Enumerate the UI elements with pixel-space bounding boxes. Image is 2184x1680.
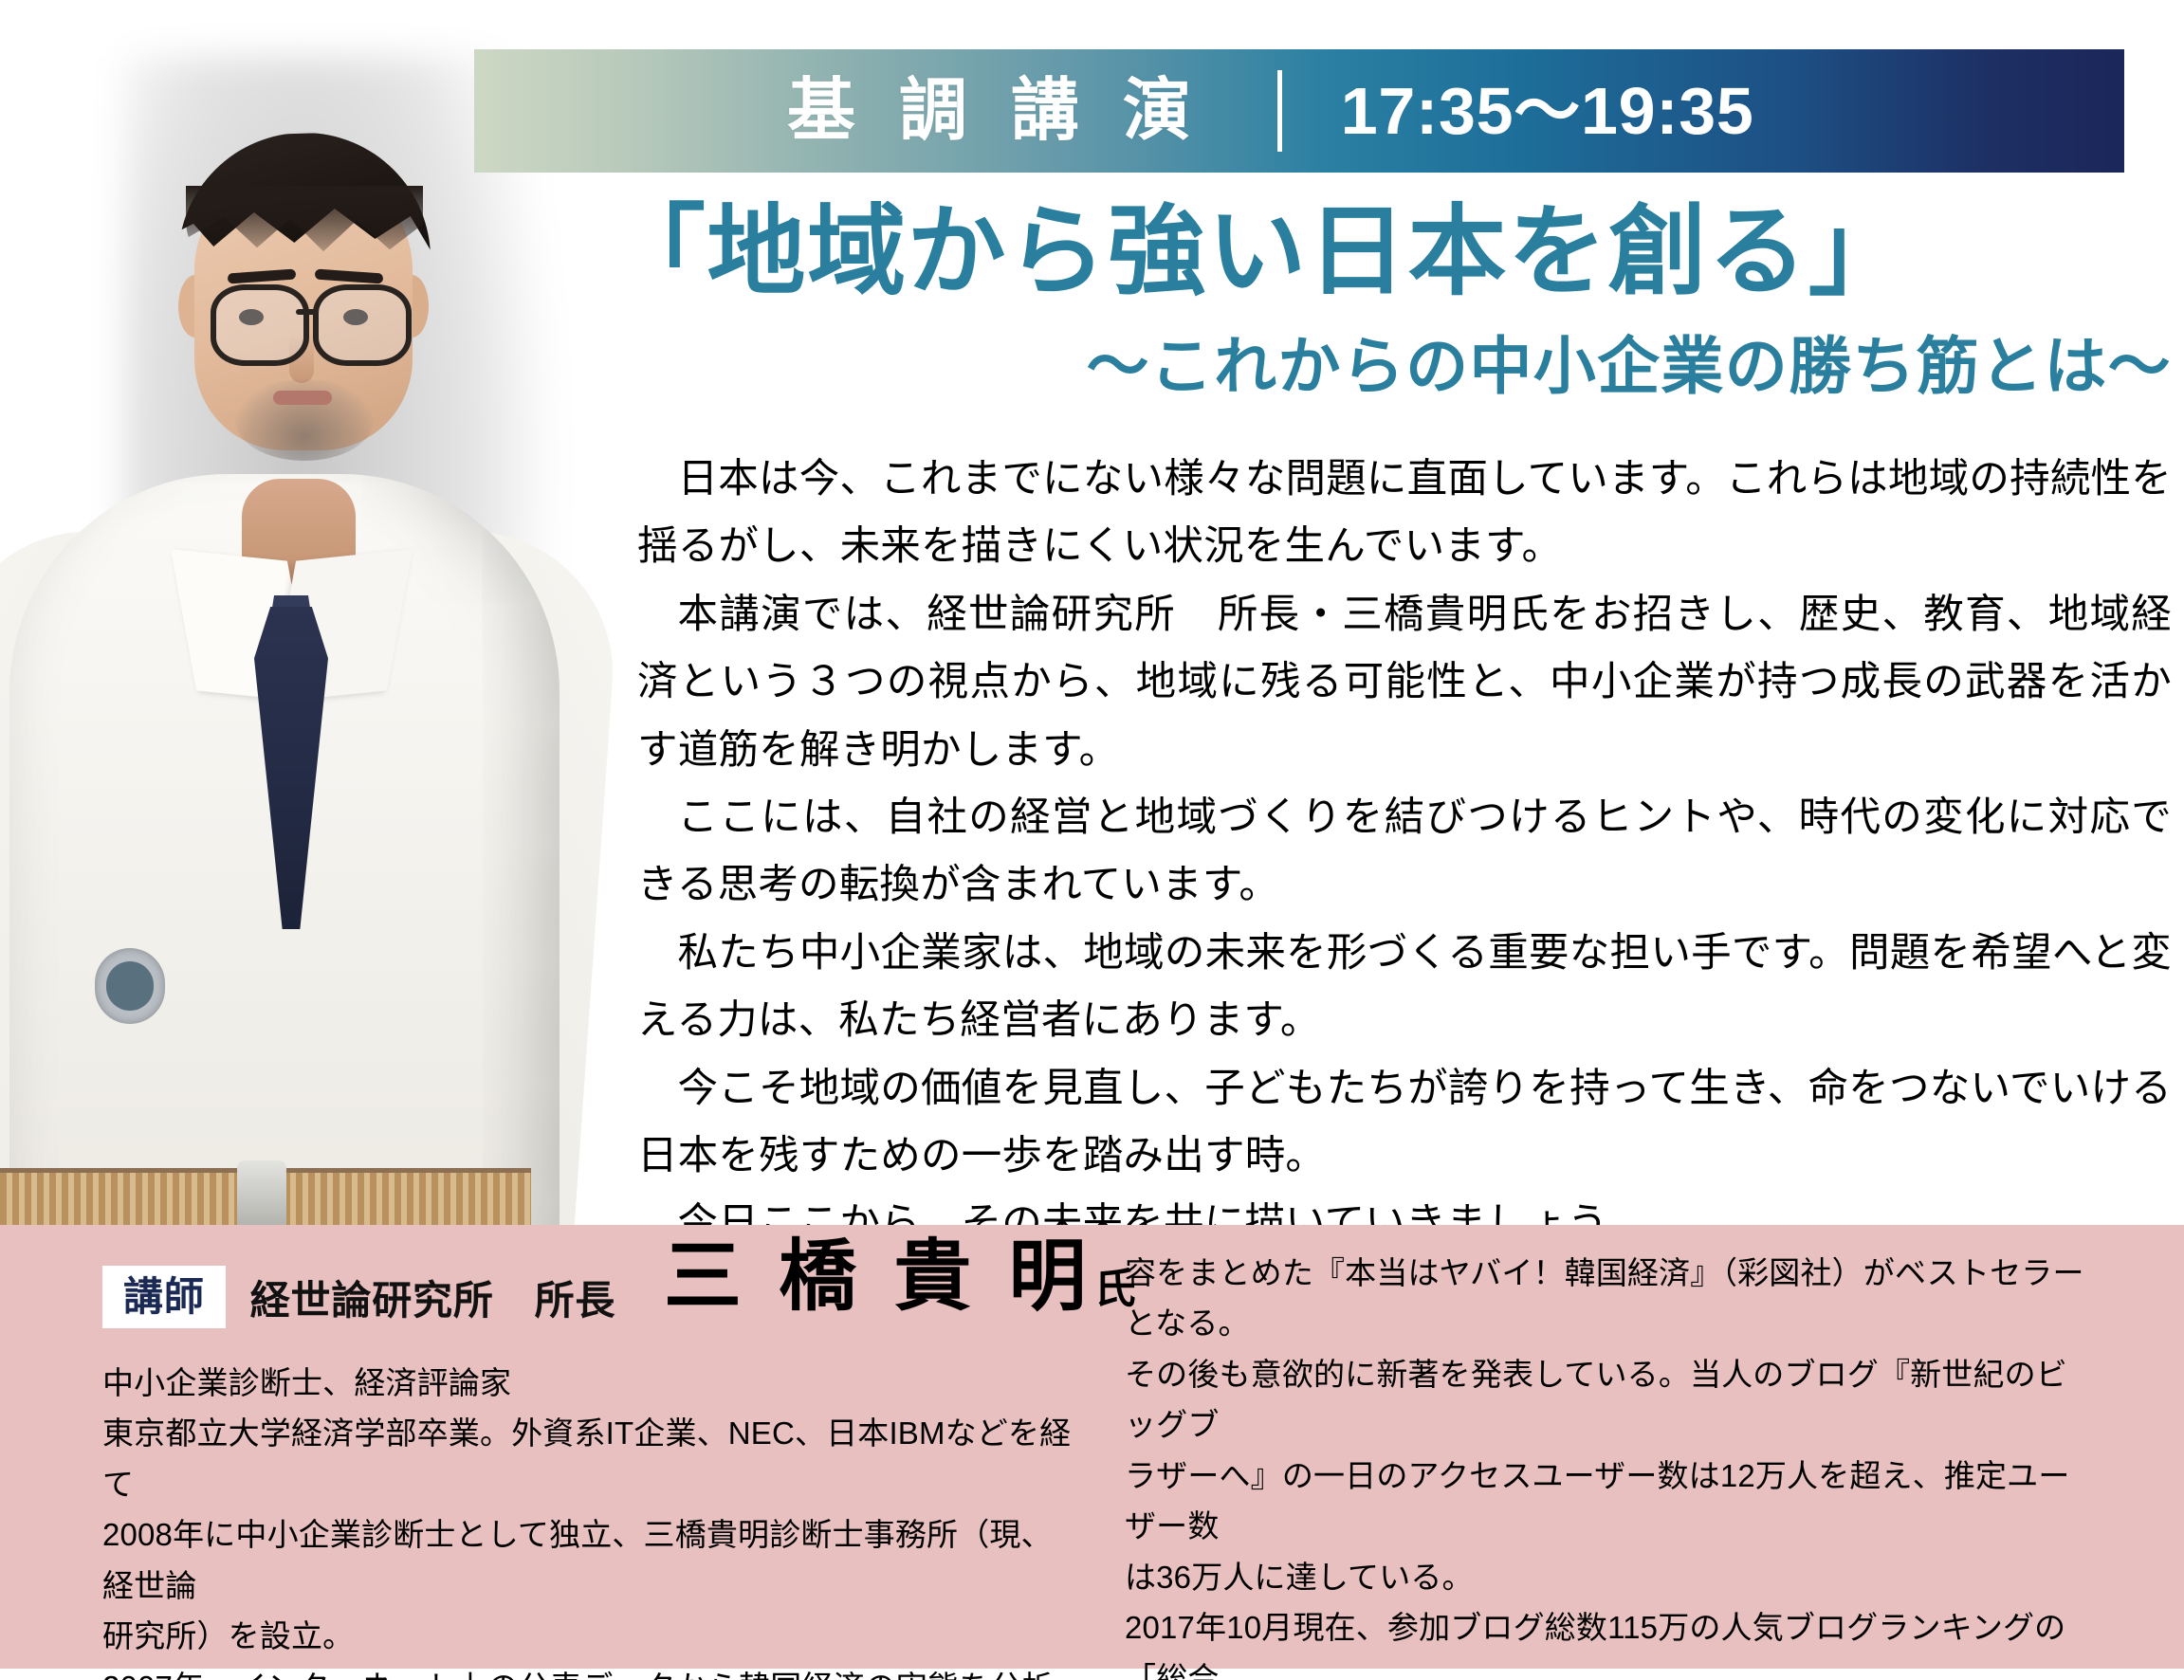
speaker-badge: 講師 [102,1266,226,1328]
bio-line: 容をまとめた『本当はヤバイ！韓国経済』（彩図社）がベストセラーとなる。 [1125,1248,2092,1349]
bio-line: 中小企業診断士、経済評論家 [102,1358,1079,1408]
bio-line: その後も意欲的に新著を発表している。当人のブログ『新世紀のビッグブ [1125,1349,2092,1451]
banner-time: 17:35〜19:35 [1341,78,1754,144]
lecture-title: 「地域から強い日本を創る」 [607,197,2162,307]
description-paragraph: 本講演では、経世論研究所 所長・三橋貴明氏をお招きし、歴史、教育、地域経済という… [637,581,2172,784]
banner-label: 基 調 講 演 [787,77,1203,145]
seminar-poster: 基 調 講 演 17:35〜19:35 「地域から強い日本を創る」 〜これからの… [0,0,2184,1680]
speaker-profile-band: 講師 経世論研究所 所長 中小企業診断士、経済評論家 東京都立大学経済学部卒業。… [0,1225,2184,1669]
speaker-portrait-photo [0,0,626,1233]
speaker-bio-left: 中小企業診断士、経済評論家 東京都立大学経済学部卒業。外資系IT企業、NEC、日… [102,1358,1079,1680]
portrait-glasses-bridge [296,309,317,315]
speaker-name: 三 橋 貴 明 [664,1233,1094,1320]
portrait-glasses-right-lens [313,284,412,366]
bio-line: 2007年、インターネット上の公表データから韓国経済の実態を分析し、内 [102,1662,1079,1680]
banner-inner: 基 調 講 演 17:35〜19:35 [787,70,1754,152]
description-paragraph: 今こそ地域の価値を見直し、子どもたちが誇りを持って生き、命をつないでいける日本を… [637,1055,2172,1191]
bio-line: は36万人に達している。 [1125,1552,2092,1602]
bio-line: 2008年に中小企業診断士として独立、三橋貴明診断士事務所（現、経世論 [102,1509,1079,1611]
portrait-belt-buckle [237,1160,286,1233]
portrait-mouth [273,391,332,405]
description-paragraph: 私たち中小企業家は、地域の未来を形づくる重要な担い手です。問題を希望へと変える力… [637,920,2172,1055]
speaker-bio-right: 容をまとめた『本当はヤバイ！韓国経済』（彩図社）がベストセラーとなる。 その後も… [1125,1248,2092,1680]
speaker-organization: 経世論研究所 所長 [250,1269,616,1326]
portrait-glasses-left-lens [211,284,309,366]
bio-line: 東京都立大学経済学部卒業。外資系IT企業、NEC、日本IBMなどを経て [102,1408,1079,1509]
description-paragraph: 日本は今、これまでにない様々な問題に直面しています。これらは地域の持続性を揺るが… [637,446,2172,581]
description-paragraph: ここには、自社の経営と地域づくりを結びつけるヒントや、時代の変化に対応できる思考… [637,784,2172,920]
bio-line: 2017年10月現在、参加ブログ総数115万の人気ブログランキングの「総合 [1125,1602,2092,1680]
speaker-name-block: 三 橋 貴 明氏 [664,1238,1136,1316]
lecture-subtitle: 〜これからの中小企業の勝ち筋とは〜 [607,332,2172,401]
banner-divider [1277,70,1282,152]
lecture-description: 日本は今、これまでにない様々な問題に直面しています。これらは地域の持続性を揺るが… [637,446,2172,1258]
portrait-wristwatch-face [106,961,154,1011]
speaker-left-column: 講師 経世論研究所 所長 中小企業診断士、経済評論家 東京都立大学経済学部卒業。… [102,1257,1079,1680]
bio-line: 研究所）を設立。 [102,1611,1079,1661]
keynote-banner: 基 調 講 演 17:35〜19:35 [474,49,2124,173]
bio-line: ラザーへ』の一日のアクセスユーザー数は12万人を超え、推定ユーザー数 [1125,1451,2092,1552]
